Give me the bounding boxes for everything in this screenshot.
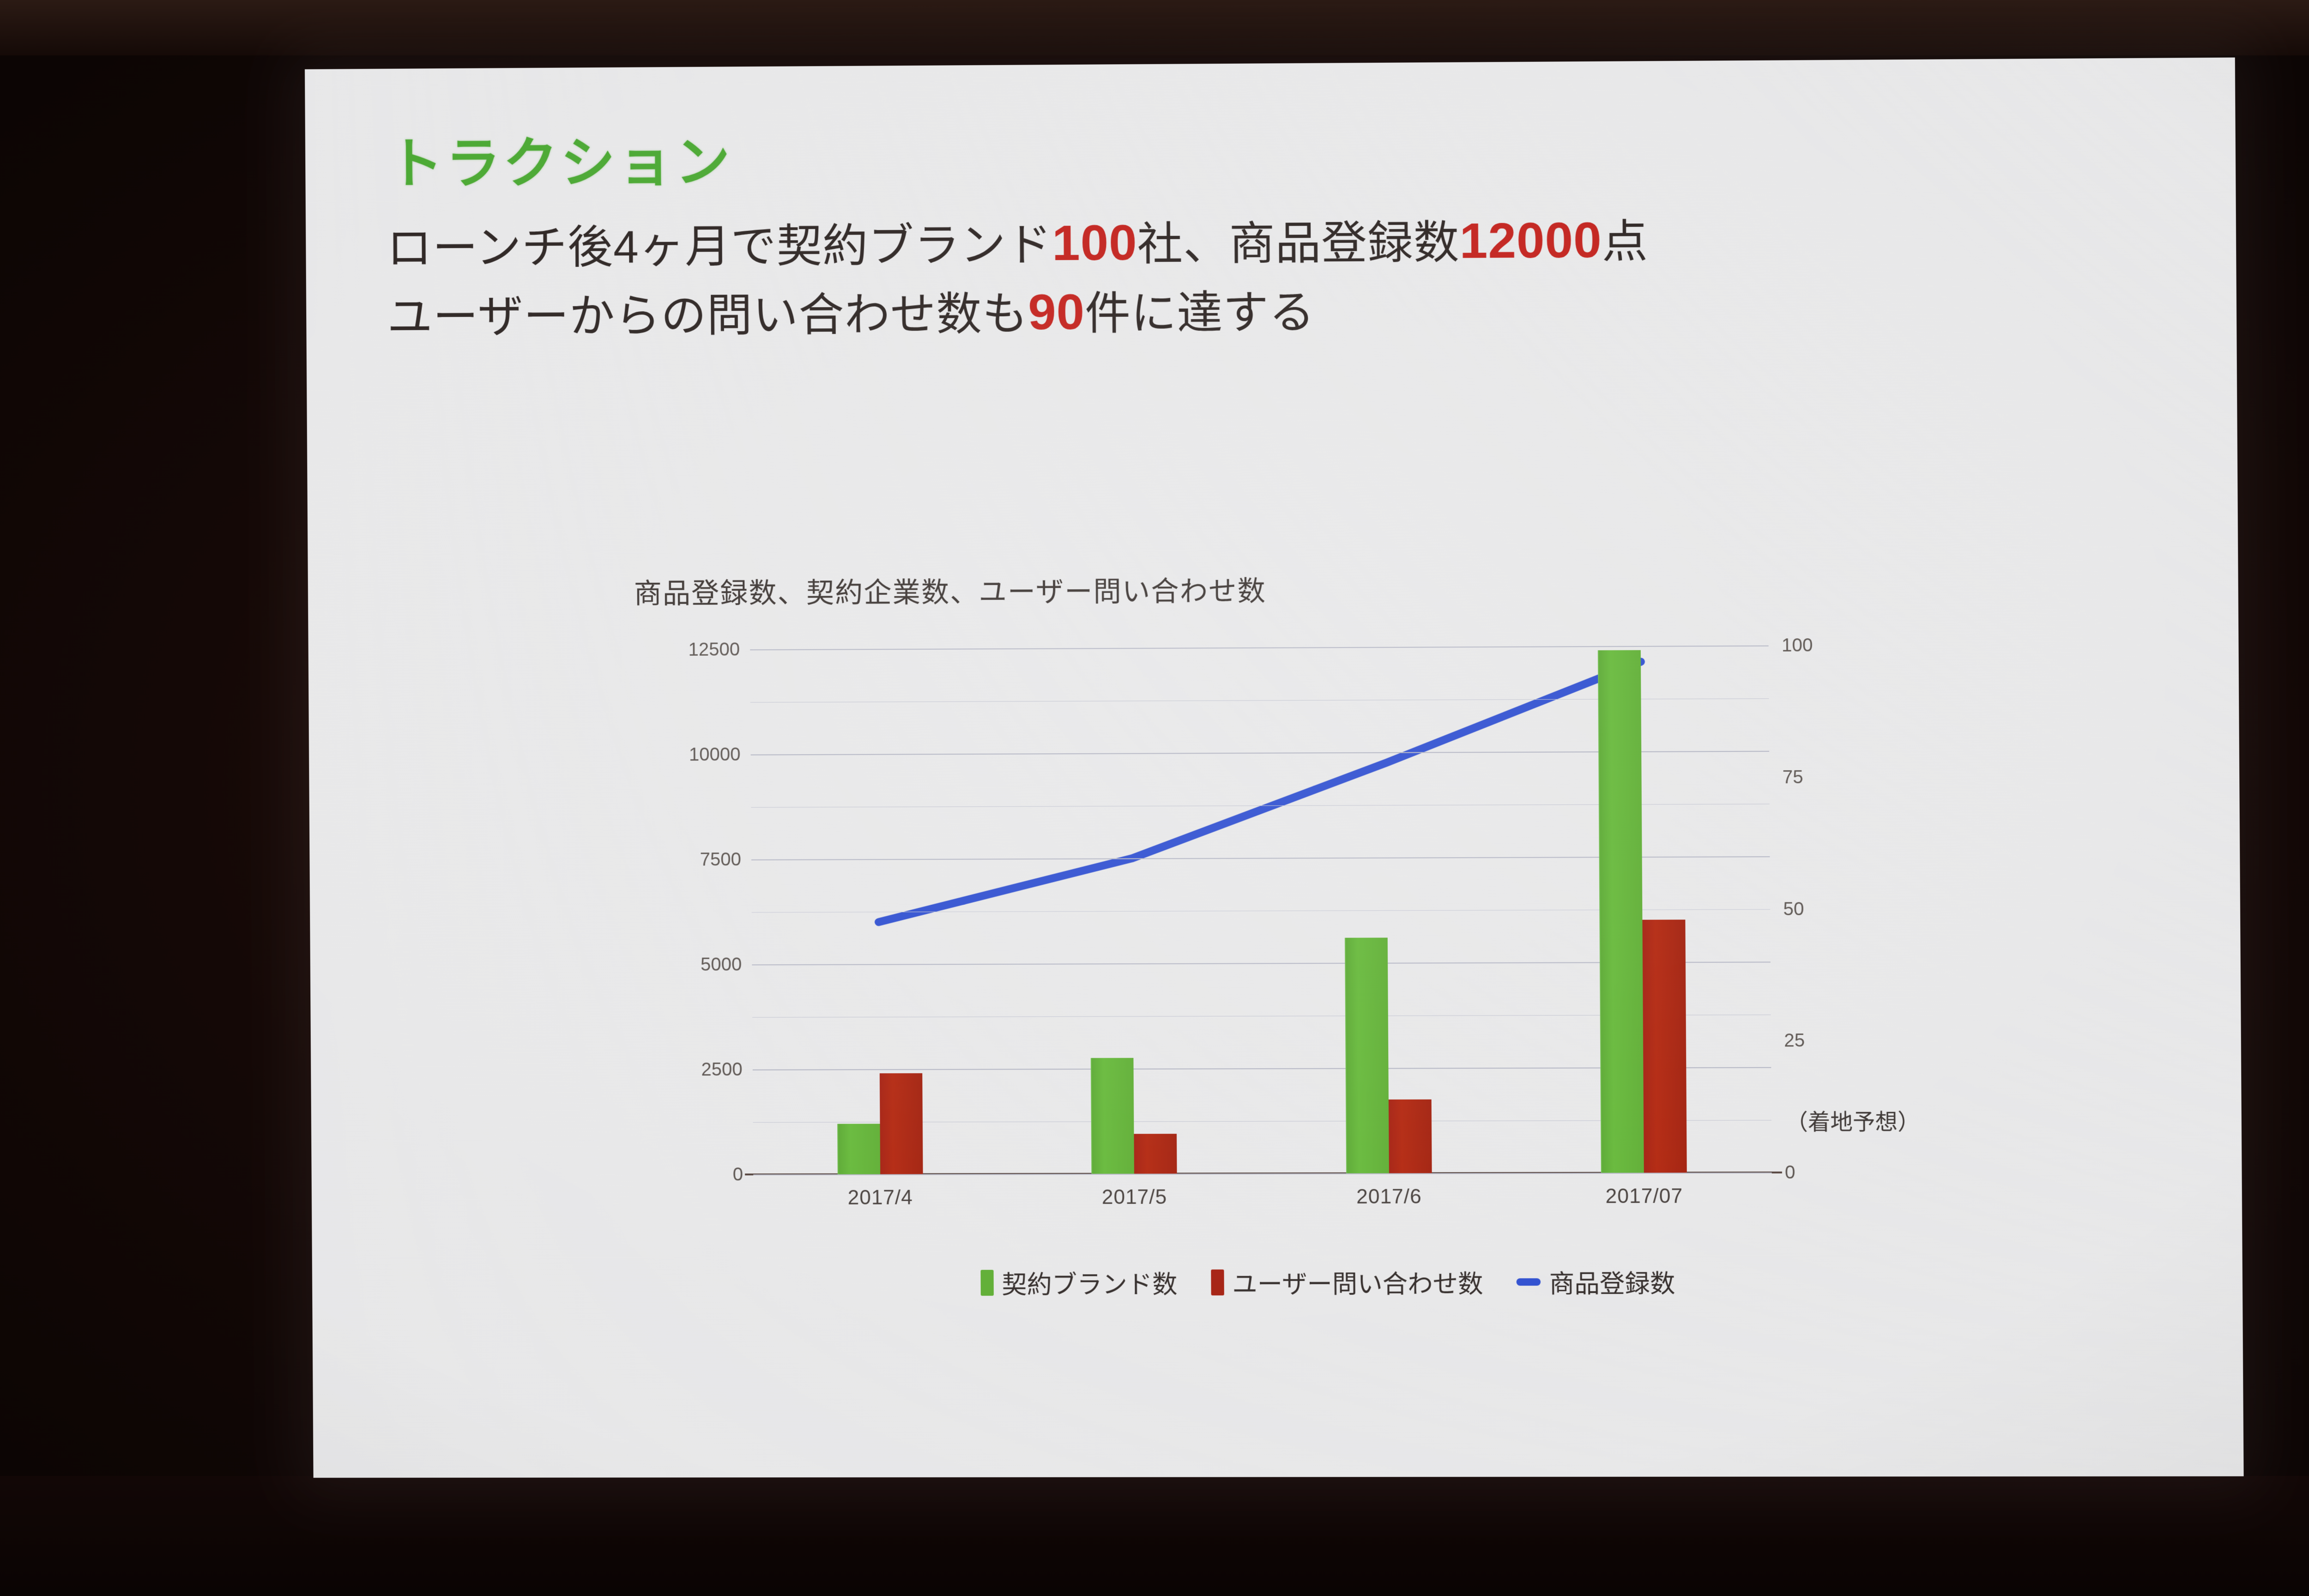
headline-line1-part-c: 点 bbox=[1602, 216, 1648, 267]
bar-contract-brands[interactable] bbox=[1345, 937, 1389, 1173]
headline-line1-part-a: ローンチ後4ヶ月で契約ブランド bbox=[387, 219, 1052, 273]
legend-item-brands[interactable]: 契約ブランド数 bbox=[980, 1264, 1178, 1301]
chart-plot-area: （着地予想） 025005000750010000125000255075100… bbox=[750, 646, 1772, 1175]
y-axis-right-tick-label: 50 bbox=[1783, 898, 1804, 919]
headline-line2-part-a: ユーザーからの問い合わせ数も bbox=[387, 288, 1028, 342]
headline-highlight-products: 12000 bbox=[1459, 212, 1602, 268]
x-axis-tick-label: 2017/6 bbox=[1356, 1185, 1422, 1208]
bar-user-inquiries[interactable] bbox=[1389, 1100, 1432, 1173]
bar-user-inquiries[interactable] bbox=[880, 1073, 923, 1174]
y-axis-right-tick-label: 100 bbox=[1782, 635, 1813, 656]
x-axis-tick-label: 2017/4 bbox=[847, 1186, 913, 1209]
y-axis-tick-label: 7500 bbox=[700, 849, 742, 870]
bar-group: 2017/4 bbox=[750, 648, 1007, 1174]
legend-label-brands: 契約ブランド数 bbox=[1002, 1264, 1178, 1301]
y-axis-tick-label: 5000 bbox=[701, 954, 742, 975]
bar-group: 2017/5 bbox=[1004, 647, 1262, 1174]
y-axis-tick-label: 10000 bbox=[689, 744, 741, 765]
bar-group: 2017/07 bbox=[1513, 646, 1772, 1173]
legend-item-inquiries[interactable]: ユーザー問い合わせ数 bbox=[1211, 1263, 1483, 1300]
chart-title: 商品登録数、契約企業数、ユーザー問い合わせ数 bbox=[634, 568, 1266, 611]
headline-highlight-inquiries: 90 bbox=[1028, 284, 1085, 340]
y-axis-tick-label: 0 bbox=[733, 1164, 743, 1185]
legend-item-products[interactable]: 商品登録数 bbox=[1517, 1263, 1675, 1300]
legend-swatch-brands bbox=[980, 1270, 993, 1295]
headline-line2-part-b: 件に達する bbox=[1085, 287, 1315, 339]
legend-label-products: 商品登録数 bbox=[1549, 1263, 1675, 1300]
room-ceiling-band bbox=[0, 0, 2309, 55]
x-axis-tick-label: 2017/07 bbox=[1605, 1185, 1683, 1208]
y-axis-right-tick-label: 75 bbox=[1783, 767, 1803, 787]
bar-group: 2017/6 bbox=[1258, 647, 1517, 1173]
page-title: トラクション bbox=[388, 118, 733, 199]
bar-contract-brands[interactable] bbox=[837, 1124, 880, 1174]
chart-legend: 契約ブランド数 ユーザー問い合わせ数 商品登録数 bbox=[585, 1263, 2074, 1301]
bar-user-inquiries[interactable] bbox=[1134, 1134, 1177, 1174]
y-axis-right-tick-label: 0 bbox=[1785, 1162, 1795, 1183]
forecast-annotation: （着地予想） bbox=[1785, 1103, 1920, 1136]
headline-text: ローンチ後4ヶ月で契約ブランド100社、商品登録数12000点 ユーザーからの問… bbox=[387, 202, 2155, 350]
legend-label-inquiries: ユーザー問い合わせ数 bbox=[1232, 1263, 1483, 1300]
bar-contract-brands[interactable] bbox=[1091, 1058, 1134, 1174]
x-axis-tick-label: 2017/5 bbox=[1102, 1186, 1167, 1209]
presentation-slide: トラクション ローンチ後4ヶ月で契約ブランド100社、商品登録数12000点 ユ… bbox=[305, 57, 2244, 1478]
y-axis-right-tick-label: 25 bbox=[1784, 1030, 1805, 1051]
bar-contract-brands[interactable] bbox=[1598, 650, 1644, 1173]
legend-swatch-inquiries bbox=[1211, 1269, 1224, 1295]
legend-swatch-products bbox=[1517, 1278, 1541, 1285]
traction-chart: 商品登録数、契約企業数、ユーザー問い合わせ数 （着地予想） 0250050007… bbox=[580, 565, 2075, 1413]
y-axis-tick-label: 2500 bbox=[701, 1059, 743, 1080]
y-axis-tick-label: 12500 bbox=[688, 639, 740, 660]
headline-highlight-brands: 100 bbox=[1052, 214, 1137, 271]
bar-user-inquiries[interactable] bbox=[1643, 920, 1687, 1173]
room-floor-band bbox=[0, 1476, 2309, 1596]
headline-line1-part-b: 社、商品登録数 bbox=[1137, 217, 1460, 269]
